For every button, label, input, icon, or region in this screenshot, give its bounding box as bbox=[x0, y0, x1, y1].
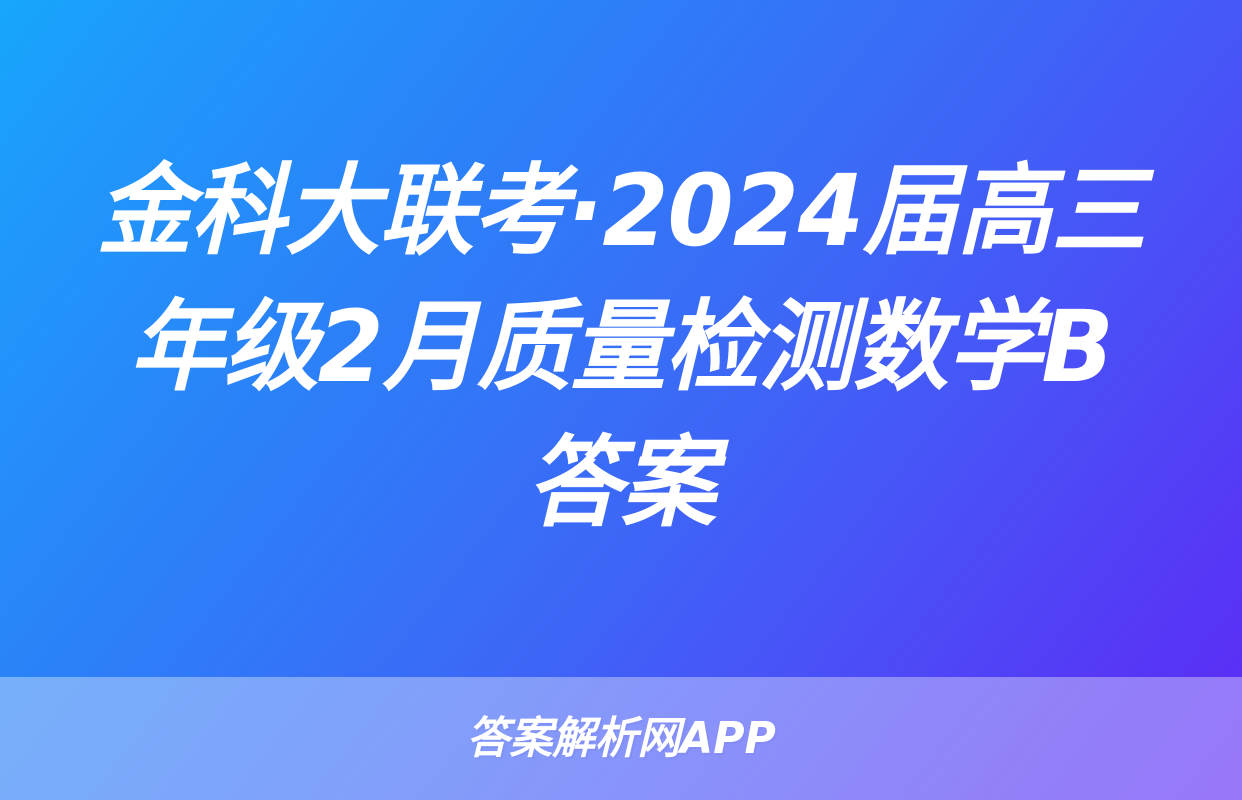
poster-canvas: 金科大联考·2024届高三 年级2月质量检测数学B 答案 答案解析网APP bbox=[0, 0, 1242, 800]
headline-block: 金科大联考·2024届高三 年级2月质量检测数学B 答案 bbox=[0, 0, 1242, 677]
headline-line-2: 年级2月质量检测数学B bbox=[129, 280, 1112, 416]
watermark-band: 答案解析网APP bbox=[0, 677, 1242, 800]
headline-line-1: 金科大联考·2024届高三 bbox=[97, 144, 1145, 280]
headline-line-3: 答案 bbox=[527, 416, 715, 552]
watermark-label: 答案解析网APP bbox=[466, 714, 775, 764]
